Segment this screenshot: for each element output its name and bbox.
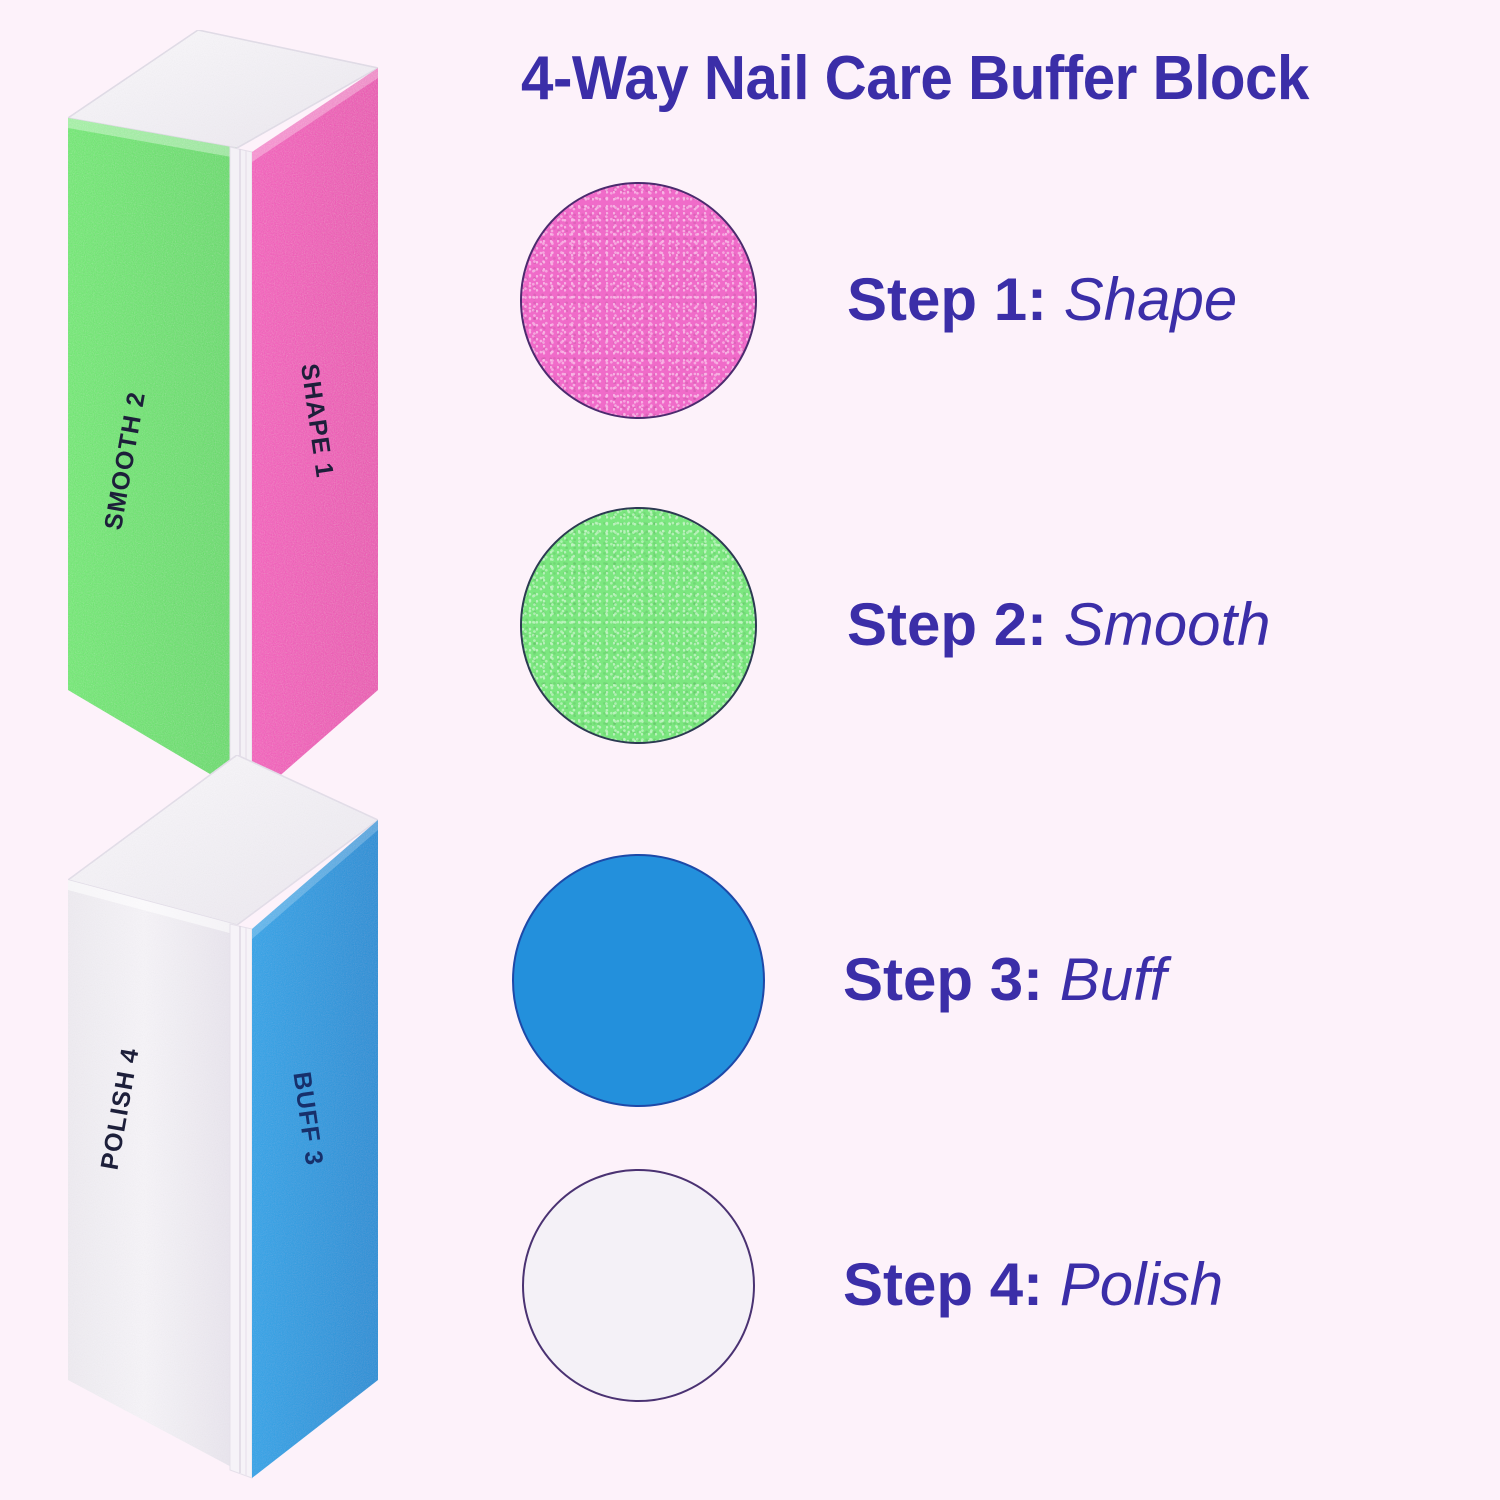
step-lead-2: Step 2:: [847, 591, 1047, 658]
upper-block-front-seam: [230, 147, 252, 800]
swatch-circle-smooth: [520, 507, 757, 744]
upper-buffer-block: SMOOTH 2 SHAPE 1: [68, 30, 378, 800]
step-label-1: Step 1: Shape: [847, 270, 1237, 330]
lower-buffer-block: POLISH 4 BUFF 3: [68, 755, 378, 1478]
step-label-3: Step 3: Buff: [843, 950, 1166, 1010]
swatch-circle-polish: [522, 1169, 755, 1402]
lower-block-front-seam: [230, 924, 252, 1478]
step-term-3: Buff: [1060, 946, 1167, 1013]
step-term-1: Shape: [1064, 266, 1238, 333]
step-lead-4: Step 4:: [843, 1251, 1043, 1318]
step-lead-3: Step 3:: [843, 946, 1043, 1013]
step-term-4: Polish: [1060, 1251, 1223, 1318]
step-row-4: Step 4: Polish: [500, 1155, 1460, 1415]
infographic-canvas: 4-Way Nail Care Buffer Block: [0, 0, 1500, 1500]
step-row-2: Step 2: Smooth: [500, 495, 1460, 755]
swatch-circle-shape: [520, 182, 757, 419]
swatch-circle-buff: [512, 854, 765, 1107]
step-row-3: Step 3: Buff: [500, 850, 1460, 1110]
step-row-1: Step 1: Shape: [500, 170, 1460, 430]
step-label-2: Step 2: Smooth: [847, 595, 1271, 655]
upper-block-green-face: [68, 118, 237, 790]
step-label-4: Step 4: Polish: [843, 1255, 1223, 1315]
product-illustration: SMOOTH 2 SHAPE 1 POLISH 4 BUFF: [0, 0, 430, 1500]
step-lead-1: Step 1:: [847, 266, 1047, 333]
lower-block-white-face: [68, 880, 237, 1470]
step-term-2: Smooth: [1064, 591, 1271, 658]
page-title: 4-Way Nail Care Buffer Block: [440, 46, 1389, 111]
